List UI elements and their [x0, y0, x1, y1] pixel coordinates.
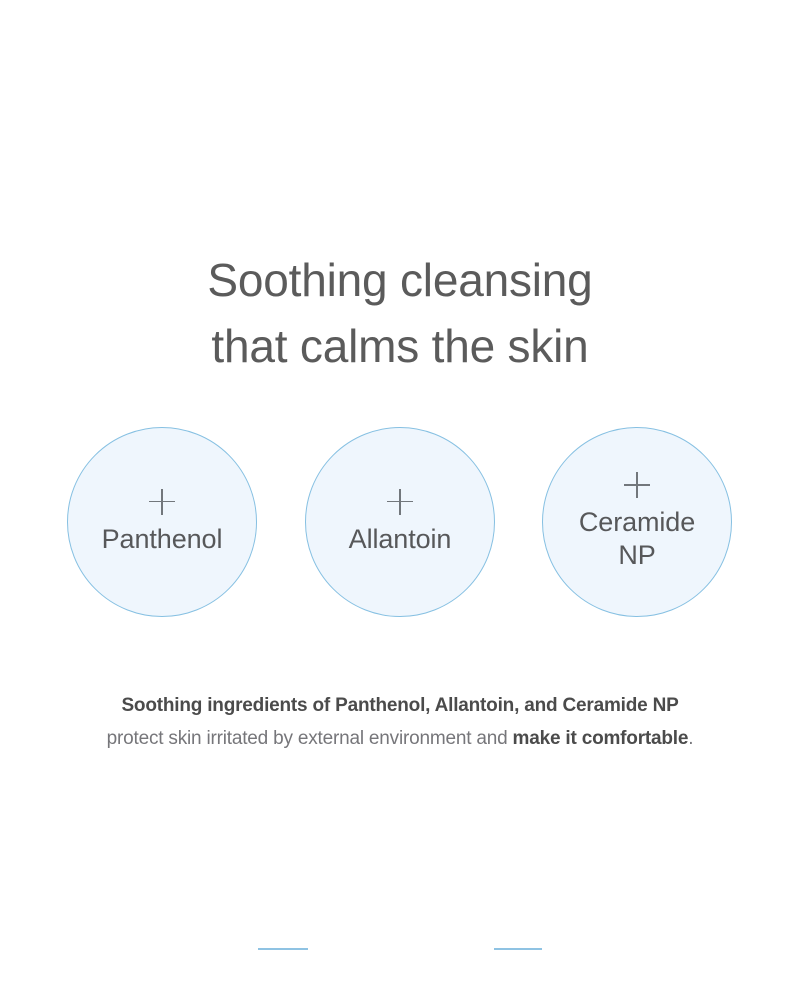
caption-text-emphasis: make it comfortable: [513, 728, 689, 749]
ingredient-label: Ceramide NP: [579, 506, 695, 572]
ingredient-bubble-ceramide-np: Ceramide NP: [542, 427, 732, 617]
ingredient-label: Allantoin: [349, 523, 452, 556]
caption-text-prefix: protect skin irritated by external envir…: [107, 728, 513, 749]
caption-line-2: protect skin irritated by external envir…: [0, 722, 800, 755]
connector-line-2: [494, 948, 542, 950]
caption-line-1: Soothing ingredients of Panthenol, Allan…: [0, 690, 800, 722]
caption-block: Soothing ingredients of Panthenol, Allan…: [0, 690, 800, 755]
plus-icon: [387, 489, 413, 515]
page-title-line-2: that calms the skin: [0, 313, 800, 379]
ingredient-bubble-allantoin: Allantoin: [305, 427, 495, 617]
product-feature-panel: Soothing cleansing that calms the skin P…: [0, 0, 800, 1000]
connector-line-1: [258, 948, 308, 950]
plus-icon: [149, 489, 175, 515]
page-title: Soothing cleansing that calms the skin: [0, 247, 800, 379]
page-title-line-1: Soothing cleansing: [0, 247, 800, 313]
ingredient-diagram: Panthenol Allantoin Ceramide NP: [0, 427, 800, 619]
plus-icon: [624, 472, 650, 498]
ingredient-label: Panthenol: [102, 523, 223, 556]
caption-text-suffix: .: [688, 728, 693, 749]
ingredient-bubble-panthenol: Panthenol: [67, 427, 257, 617]
